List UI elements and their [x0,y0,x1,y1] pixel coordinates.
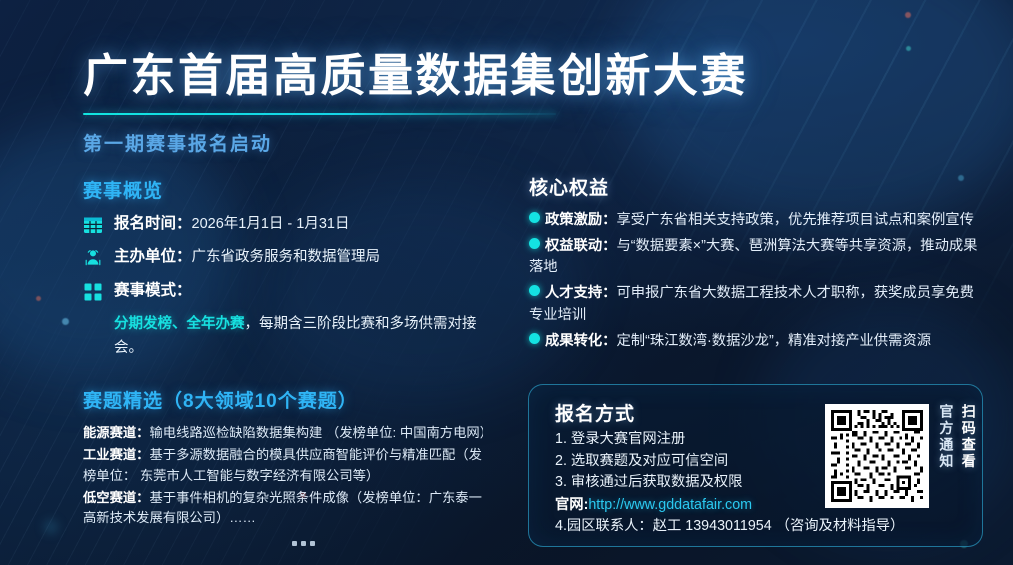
poster-canvas: 广东首届高质量数据集创新大赛 第一期赛事报名启动 赛事概览 [0,0,1013,565]
spark-particle [36,296,41,301]
title-underline-rule [83,113,556,115]
spark-particle [905,12,911,18]
benefit-item: 政策激励：享受广东省相关支持政策，优先推荐项目试点和案例宣传 [529,210,979,232]
overview-section: 赛事概览 报名时间：2026年1月1日 - 1月31日 [83,176,503,360]
pagination-dot[interactable] [310,541,315,546]
qr-caption-scan-to-view: 扫码查看 [960,404,975,496]
spark-particle [906,46,911,51]
poster-header: 广东首届高质量数据集创新大赛 第一期赛事报名启动 [83,52,963,156]
signup-text-block: 报名方式 1. 登录大赛官网注册 2. 选取赛题及对应可信空间 3. 审核通过后… [555,399,845,538]
overview-row-text: 赛事模式： [114,280,192,302]
bullet-dot-icon [529,212,540,223]
benefit-item: 成果转化：定制“珠江数湾·数据沙龙”，精准对接产业供需资源 [529,331,979,353]
mode-highlight-text: 分期发榜、全年办赛 [114,316,245,332]
bullet-dot-icon [529,285,540,296]
organizer-user-icon [83,248,103,268]
overview-row-registration-time: 报名时间：2026年1月1日 - 1月31日 [83,213,503,235]
topics-section: 赛题精选（8大领域10个赛题） 能源赛道：输电线路巡检缺陷数据集构建 （发榜单位… [83,386,503,529]
signup-step: 2. 选取赛题及对应可信空间 [555,451,845,473]
overview-row-text: 报名时间：2026年1月1日 - 1月31日 [114,213,349,235]
page-subtitle: 第一期赛事报名启动 [83,129,963,156]
left-column: 赛事概览 报名时间：2026年1月1日 - 1月31日 [83,176,503,530]
overview-row-mode: 赛事模式： [83,280,503,302]
benefit-text: 享受广东省相关支持政策，优先推荐项目试点和案例宣传 [616,212,973,228]
topic-item: 低空赛道：基于事件相机的复杂光照条件成像（发榜单位：广东泰一高新技术发展有限公司… [83,488,483,529]
pagination-dot[interactable] [301,541,306,546]
overview-row-organizer: 主办单位：广东省政务服务和数据管理局 [83,246,503,268]
topic-item: 能源赛道：输电线路巡检缺陷数据集构建 （发榜单位: 中国南方电网） [83,423,483,444]
overview-row-label: 报名时间： [114,215,192,232]
signup-website-label: 官网: [555,497,588,513]
pagination-dot[interactable] [292,541,297,546]
topics-heading: 赛题精选（8大领域10个赛题） [83,386,503,413]
overview-row-text: 主办单位：广东省政务服务和数据管理局 [114,246,380,268]
signup-website-link[interactable]: http://www.gddatafair.com [588,497,752,513]
topic-label: 能源赛道： [83,425,149,440]
spark-particle [44,520,58,534]
topic-text: 输电线路巡检缺陷数据集构建 （发榜单位: 中国南方电网） [149,425,483,440]
page-title: 广东首届高质量数据集创新大赛 [83,52,963,101]
spark-particle [62,318,69,325]
calendar-icon [83,215,103,235]
benefit-item: 权益联动：与“数据要素×”大赛、琶洲算法大赛等共享资源，推动成果落地 [529,236,979,279]
bullet-dot-icon [529,238,540,249]
benefit-item: 人才支持：可申报广东省大数据工程技术人才职称，获奖成员享免费专业培训 [529,283,979,326]
right-column: 核心权益 政策激励：享受广东省相关支持政策，优先推荐项目试点和案例宣传 权益联动… [529,173,979,356]
benefit-label: 人才支持： [545,285,616,301]
overview-heading: 赛事概览 [83,176,503,203]
qr-caption-official-notice: 官方通知 [938,404,953,496]
qr-block: 官方通知 扫码查看 [825,404,976,508]
pagination-dots[interactable] [292,541,315,546]
benefit-label: 权益联动： [545,238,616,254]
overview-row-label: 赛事模式： [114,282,192,299]
benefit-label: 政策激励： [545,212,616,228]
signup-panel: 报名方式 1. 登录大赛官网注册 2. 选取赛题及对应可信空间 3. 审核通过后… [528,384,983,547]
signup-step: 1. 登录大赛官网注册 [555,429,845,451]
signup-contact: 4.园区联系人：赵工 13943011954 （咨询及材料指导） [555,516,845,538]
signup-title: 报名方式 [555,399,845,426]
bullet-dot-icon [529,333,540,344]
overview-row-label: 主办单位： [114,248,192,265]
benefits-heading: 核心权益 [529,173,979,200]
grid-squares-icon [83,282,103,302]
overview-mode-description: 分期发榜、全年办赛，每期含三阶段比赛和多场供需对接会。 [114,313,489,360]
benefit-label: 成果转化： [545,333,616,349]
signup-step: 3. 审核通过后获取数据及权限 [555,472,845,494]
benefit-text: 定制“珠江数湾·数据沙龙”，精准对接产业供需资源 [616,333,931,349]
signup-website-row: 官网:http://www.gddatafair.com [555,494,845,516]
overview-row-value: 2026年1月1日 - 1月31日 [192,216,350,232]
qr-code-icon[interactable] [825,404,929,508]
topic-label: 低空赛道： [83,490,149,505]
topic-label: 工业赛道： [83,447,149,462]
topic-item: 工业赛道：基于多源数据融合的模具供应商智能评价与精准匹配（发榜单位： 东莞市人工… [83,445,483,486]
overview-row-value: 广东省政务服务和数据管理局 [192,249,381,265]
